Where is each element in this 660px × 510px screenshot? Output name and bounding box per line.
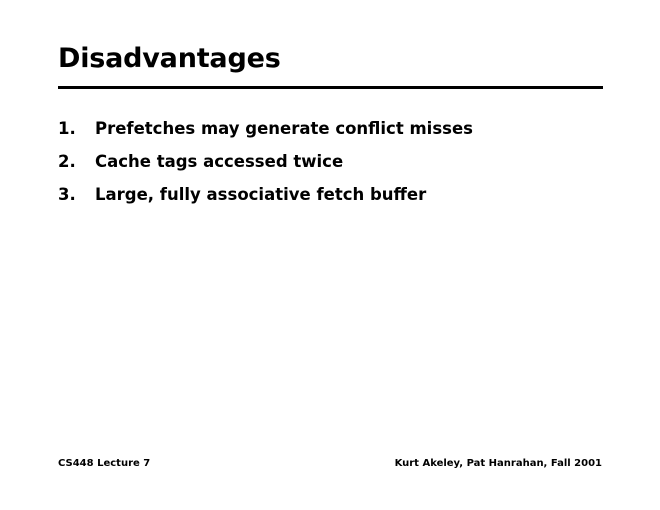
list-item: 1. Prefetches may generate conflict miss… [58,112,618,145]
list-item-number: 3. [58,178,95,211]
list-item: 3. Large, fully associative fetch buffer [58,178,618,211]
title-divider [58,86,603,89]
list-item-label: Large, fully associative fetch buffer [95,178,618,211]
list-item-number: 1. [58,112,95,145]
list-item-number: 2. [58,145,95,178]
footer-course-label: CS448 Lecture 7 [58,458,150,469]
list-item-label: Prefetches may generate conflict misses [95,112,618,145]
slide-footer: CS448 Lecture 7 Kurt Akeley, Pat Hanraha… [58,456,602,470]
slide: Disadvantages 1. Prefetches may generate… [0,0,660,510]
page-title: Disadvantages [58,44,281,74]
list-item: 2. Cache tags accessed twice [58,145,618,178]
footer-authors-label: Kurt Akeley, Pat Hanrahan, Fall 2001 [395,458,602,469]
list-item-label: Cache tags accessed twice [95,145,618,178]
numbered-list: 1. Prefetches may generate conflict miss… [58,112,618,211]
